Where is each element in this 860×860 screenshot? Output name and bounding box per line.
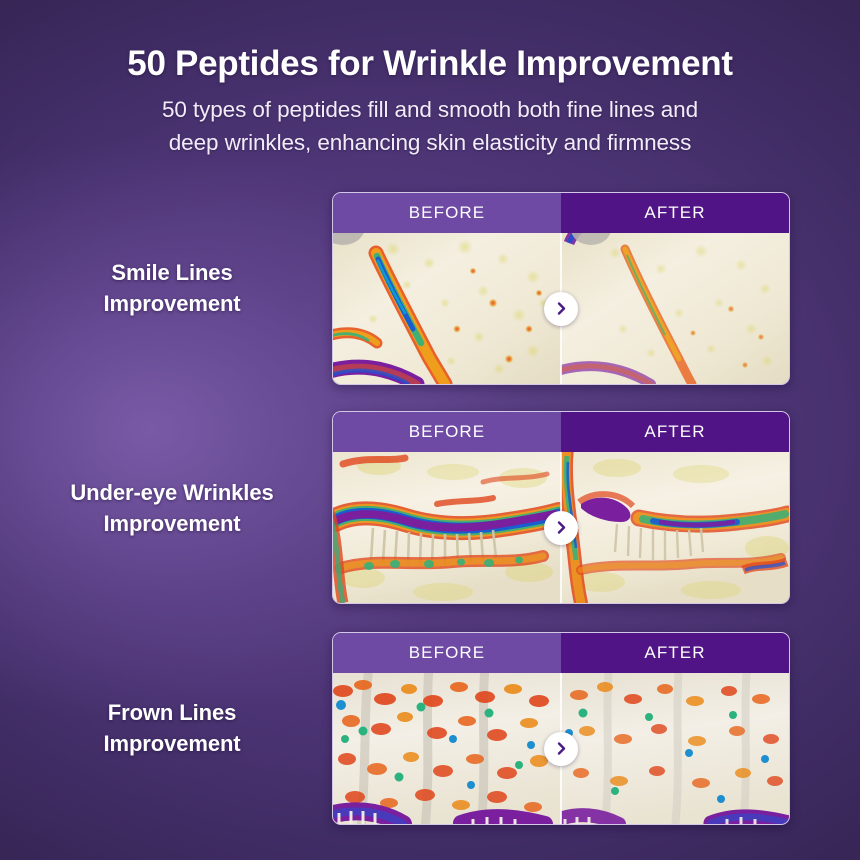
chevron-right-icon[interactable] xyxy=(544,292,578,326)
before-label: BEFORE xyxy=(333,193,561,233)
after-label: AFTER xyxy=(561,193,789,233)
comparison-card-frown-lines[interactable]: BEFORE AFTER xyxy=(332,632,790,825)
skin-heatmap-before xyxy=(333,233,561,384)
page-subtitle: 50 types of peptides fill and smooth bot… xyxy=(0,93,860,160)
row-label-smile-lines: Smile Lines Improvement xyxy=(22,257,322,319)
chevron-right-icon[interactable] xyxy=(544,732,578,766)
row-label-line-2: Improvement xyxy=(22,728,322,759)
comparison-card-smile-lines[interactable]: BEFORE AFTER xyxy=(332,192,790,385)
after-scan-image xyxy=(561,673,789,824)
row-label-line-1: Smile Lines xyxy=(22,257,322,288)
card-image-area xyxy=(333,452,789,603)
chevron-right-icon[interactable] xyxy=(544,511,578,545)
subtitle-line-1: 50 types of peptides fill and smooth bot… xyxy=(0,93,860,126)
before-scan-image xyxy=(333,673,561,824)
page-title: 50 Peptides for Wrinkle Improvement xyxy=(0,44,860,83)
card-header: BEFORE AFTER xyxy=(333,412,789,452)
header-block: 50 Peptides for Wrinkle Improvement 50 t… xyxy=(0,44,860,160)
skin-heatmap-before xyxy=(333,673,561,824)
after-label: AFTER xyxy=(561,633,789,673)
before-scan-image xyxy=(333,233,561,384)
row-label-line-1: Frown Lines xyxy=(22,697,322,728)
skin-heatmap-after xyxy=(561,452,789,603)
card-header: BEFORE AFTER xyxy=(333,633,789,673)
after-label: AFTER xyxy=(561,412,789,452)
before-scan-image xyxy=(333,452,561,603)
skin-heatmap-before xyxy=(333,452,561,603)
skin-heatmap-after xyxy=(561,233,789,384)
comparison-card-under-eye[interactable]: BEFORE AFTER xyxy=(332,411,790,604)
card-header: BEFORE AFTER xyxy=(333,193,789,233)
row-label-frown-lines: Frown Lines Improvement xyxy=(22,697,322,759)
before-label: BEFORE xyxy=(333,633,561,673)
before-label: BEFORE xyxy=(333,412,561,452)
row-label-line-2: Improvement xyxy=(22,508,322,539)
row-label-line-2: Improvement xyxy=(22,288,322,319)
card-image-area xyxy=(333,673,789,824)
skin-heatmap-after xyxy=(561,673,789,824)
after-scan-image xyxy=(561,452,789,603)
row-label-line-1: Under-eye Wrinkles xyxy=(22,477,322,508)
card-image-area xyxy=(333,233,789,384)
subtitle-line-2: deep wrinkles, enhancing skin elasticity… xyxy=(0,126,860,159)
after-scan-image xyxy=(561,233,789,384)
poster-canvas: 50 Peptides for Wrinkle Improvement 50 t… xyxy=(0,0,860,860)
row-label-under-eye: Under-eye Wrinkles Improvement xyxy=(22,477,322,539)
